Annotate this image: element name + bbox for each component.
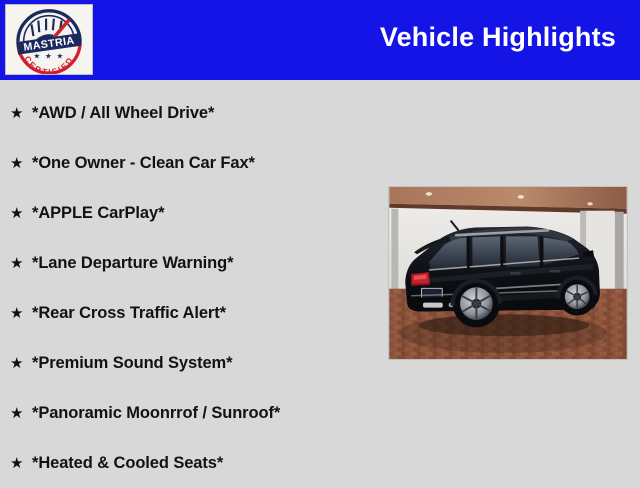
list-item: ★ *Premium Sound System* bbox=[8, 338, 368, 388]
vehicle-photo bbox=[388, 186, 628, 360]
star-icon: ★ bbox=[8, 256, 32, 271]
list-item: ★ *AWD / All Wheel Drive* bbox=[8, 88, 368, 138]
star-icon: ★ bbox=[8, 306, 32, 321]
list-item: ★ *One Owner - Clean Car Fax* bbox=[8, 138, 368, 188]
list-item-label: *One Owner - Clean Car Fax* bbox=[32, 154, 255, 173]
list-item: ★ *Lane Departure Warning* bbox=[8, 238, 368, 288]
star-icon: ★ bbox=[8, 106, 32, 121]
list-item: ★ *Panoramic Moonrrof / Sunroof* bbox=[8, 388, 368, 438]
star-icon: ★ bbox=[8, 356, 32, 371]
list-item-label: *Rear Cross Traffic Alert* bbox=[32, 304, 226, 323]
list-item-label: *Lane Departure Warning* bbox=[32, 254, 233, 273]
star-icon: ★ bbox=[8, 406, 32, 421]
page-title: Vehicle Highlights bbox=[380, 22, 616, 53]
page-header: MASTRIA ★ ★ ★ CERTIFIED Vehicle Highligh… bbox=[0, 0, 640, 80]
list-item: ★ *Heated & Cooled Seats* bbox=[8, 438, 368, 488]
list-item-label: *AWD / All Wheel Drive* bbox=[32, 104, 214, 123]
vehicle-photo-image bbox=[389, 187, 627, 359]
list-item-label: *APPLE CarPlay* bbox=[32, 204, 164, 223]
star-icon: ★ bbox=[8, 456, 32, 471]
list-item: ★ *Rear Cross Traffic Alert* bbox=[8, 288, 368, 338]
list-item-label: *Heated & Cooled Seats* bbox=[32, 454, 223, 473]
mastria-certified-logo: MASTRIA ★ ★ ★ CERTIFIED bbox=[5, 4, 93, 75]
logo-stars: ★ ★ ★ bbox=[34, 51, 65, 60]
vehicle-highlights-list: ★ *AWD / All Wheel Drive* ★ *One Owner -… bbox=[8, 88, 368, 488]
list-item-label: *Premium Sound System* bbox=[32, 354, 232, 373]
list-item: ★ *APPLE CarPlay* bbox=[8, 188, 368, 238]
list-item-label: *Panoramic Moonrrof / Sunroof* bbox=[32, 404, 280, 423]
mastria-certified-logo-icon: MASTRIA ★ ★ ★ CERTIFIED bbox=[6, 5, 92, 74]
star-icon: ★ bbox=[8, 156, 32, 171]
star-icon: ★ bbox=[8, 206, 32, 221]
